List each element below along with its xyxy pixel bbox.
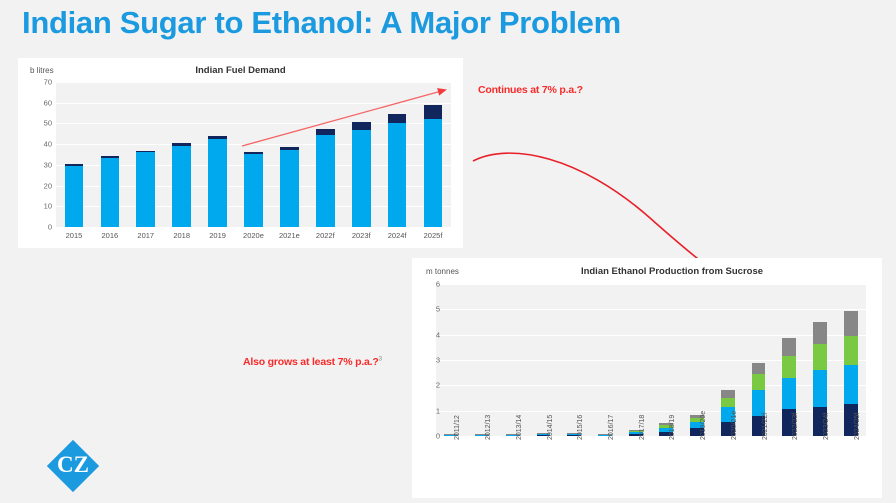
x-axis-tick: 2015/16 (577, 415, 584, 440)
annotation-continues-text: Continues at 7% p.a.? (478, 84, 583, 96)
bar-2021e[interactable] (280, 82, 299, 227)
x-axis-tick: 2024f (379, 231, 415, 240)
gridline (436, 309, 866, 310)
bar-segment-ethanol (65, 164, 84, 166)
bar-segment-karnataka (752, 374, 766, 390)
gridline (436, 360, 866, 361)
y-axis-tick: 30 (34, 160, 52, 169)
bar-2015-16[interactable] (567, 284, 581, 436)
x-axis-tick: 2022f (307, 231, 343, 240)
y-axis-tick: 3 (422, 356, 440, 365)
x-axis-tick: 2021e (271, 231, 307, 240)
bar-segment-karnataka (844, 336, 858, 365)
bar-segment-karnataka (782, 356, 796, 378)
bar-segment-ethanol (280, 147, 299, 150)
x-axis-tick: 2014/15 (547, 415, 554, 440)
bar-2020e[interactable] (244, 82, 263, 227)
bar-segment-gasoline (101, 158, 120, 227)
y-axis-tick: 4 (422, 330, 440, 339)
bar-segment-karnataka (813, 344, 827, 371)
bar-segment-ethanol (101, 156, 120, 158)
x-axis-tick: 2012/13 (485, 415, 492, 440)
chart2-title: Indian Ethanol Production from Sucrose (472, 266, 872, 277)
bar-2018-19[interactable] (659, 284, 673, 436)
bar-segment-ethanol (316, 129, 335, 135)
bar-segment-ethanol (172, 143, 191, 145)
x-axis-tick: 2017 (128, 231, 164, 240)
gridline (436, 335, 866, 336)
bar-2022f[interactable] (316, 82, 335, 227)
bar-2016[interactable] (101, 82, 120, 227)
bar-segment-others (752, 363, 766, 374)
bar-2011-12[interactable] (444, 284, 458, 436)
bar-2015[interactable] (65, 82, 84, 227)
chart-card-ethanol-production: m tonnes Indian Ethanol Production from … (412, 258, 882, 498)
bar-segment-maharashtra (782, 378, 796, 410)
bar-2025f[interactable] (424, 82, 443, 227)
y-axis-tick: 20 (34, 181, 52, 190)
x-axis-tick: 2011/12 (454, 415, 461, 440)
bar-2013-14[interactable] (506, 284, 520, 436)
bar-segment-gasoline (208, 139, 227, 227)
x-axis-tick: 2020/21e (731, 411, 738, 440)
y-axis-tick: 2 (422, 381, 440, 390)
page-title: Indian Sugar to Ethanol: A Major Problem (22, 5, 621, 41)
chart2-units-label: m tonnes (426, 267, 459, 276)
x-axis-tick: 2024/25f (854, 413, 861, 440)
chart1-title: Indian Fuel Demand (18, 65, 463, 76)
x-axis-tick: 2020e (236, 231, 272, 240)
bar-segment-others (721, 390, 735, 398)
bar-segment-others (844, 311, 858, 336)
bar-segment-gasoline (424, 119, 443, 227)
bar-segment-gasoline (316, 135, 335, 227)
bar-segment-gasoline (388, 123, 407, 227)
gridline (436, 385, 866, 386)
bar-segment-maharashtra (813, 370, 827, 407)
bar-segment-gasoline (172, 146, 191, 227)
x-axis-tick: 2016 (92, 231, 128, 240)
x-axis-tick: 2013/14 (516, 415, 523, 440)
y-axis-tick: 0 (34, 223, 52, 232)
cz-diamond-icon: CZ (44, 437, 102, 495)
bar-2017[interactable] (136, 82, 155, 227)
bar-segment-ethanol (136, 151, 155, 152)
bar-segment-gasoline (280, 150, 299, 227)
bar-2012-13[interactable] (475, 284, 489, 436)
bar-segment-maharashtra (844, 365, 858, 404)
chart-card-fuel-demand: b litres Indian Fuel Demand GasolineEtha… (18, 58, 463, 248)
bar-segment-others (782, 338, 796, 356)
x-axis-tick: 2023f (343, 231, 379, 240)
bar-segment-ethanol (424, 105, 443, 120)
bar-segment-gasoline (352, 130, 371, 227)
x-axis-tick: 2019 (200, 231, 236, 240)
x-axis-tick: 2019/20e (700, 411, 707, 440)
y-axis-tick: 60 (34, 98, 52, 107)
bar-2024f[interactable] (388, 82, 407, 227)
slide-canvas: Indian Sugar to Ethanol: A Major Problem… (0, 0, 896, 503)
x-axis-tick: 2018 (164, 231, 200, 240)
annotation-also-grows: Also grows at least 7% p.a.?3 (243, 356, 382, 368)
bar-segment-ethanol (244, 152, 263, 154)
bar-segment-others (813, 322, 827, 344)
bar-2019[interactable] (208, 82, 227, 227)
bar-segment-ethanol (388, 114, 407, 124)
bar-segment-ethanol (352, 122, 371, 129)
bar-segment-gasoline (136, 152, 155, 227)
gridline (436, 284, 866, 285)
x-axis-tick: 2016/17 (608, 415, 615, 440)
logo-initials: CZ (57, 452, 89, 477)
bar-2016-17[interactable] (598, 284, 612, 436)
bar-2018[interactable] (172, 82, 191, 227)
x-axis-tick: 2015 (56, 231, 92, 240)
bar-segment-gasoline (65, 166, 84, 227)
annotation-continues: Continues at 7% p.a.? (478, 84, 583, 96)
chart2-plot-area: 0123456 (436, 284, 866, 436)
y-axis-tick: 50 (34, 119, 52, 128)
bar-2017-18[interactable] (629, 284, 643, 436)
y-axis-tick: 5 (422, 305, 440, 314)
annotation-also-grows-text: Also grows at least 7% p.a.? (243, 356, 379, 368)
bar-segment-karnataka (721, 398, 735, 407)
y-axis-tick: 6 (422, 280, 440, 289)
y-axis-tick: 0 (422, 432, 440, 441)
company-logo: CZ (44, 437, 102, 495)
x-axis-tick: 2017/18 (639, 415, 646, 440)
bar-2014-15[interactable] (537, 284, 551, 436)
y-axis-tick: 40 (34, 140, 52, 149)
bar-2023f[interactable] (352, 82, 371, 227)
y-axis-tick: 1 (422, 406, 440, 415)
y-axis-tick: 10 (34, 202, 52, 211)
annotation-footnote-marker: 3 (379, 357, 382, 363)
bar-segment-gasoline (244, 154, 263, 227)
x-axis-tick: 2022/23f (792, 413, 799, 440)
x-axis-tick: 2025f (415, 231, 451, 240)
x-axis-tick: 2021/22f (762, 413, 769, 440)
y-axis-tick: 70 (34, 78, 52, 87)
bar-segment-ethanol (208, 136, 227, 139)
x-axis-tick: 2023/24f (823, 413, 830, 440)
gridline (436, 411, 866, 412)
chart1-plot-area: 010203040506070 (56, 82, 451, 227)
x-axis-tick: 2018/19 (669, 415, 676, 440)
